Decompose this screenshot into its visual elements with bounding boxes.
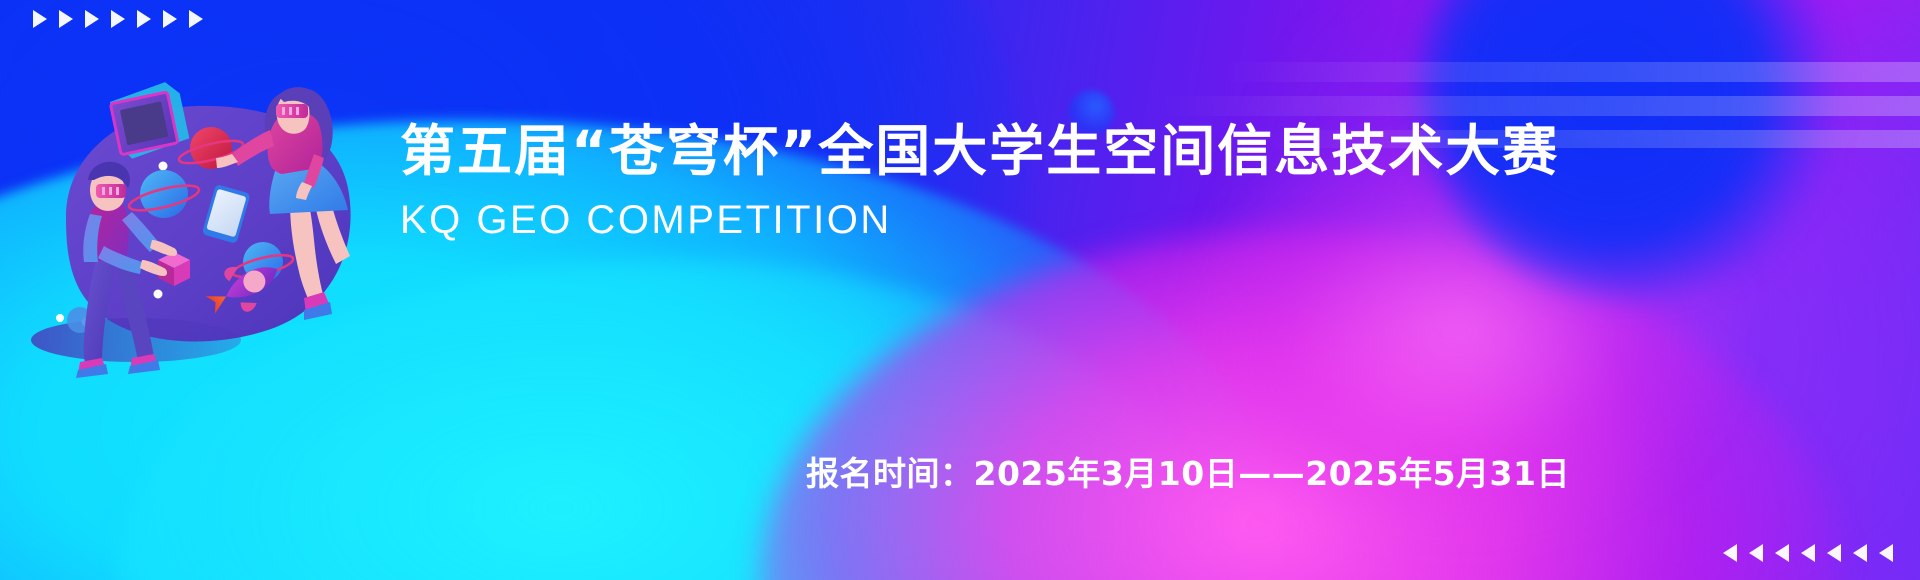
banner-title-english: KQ GEO COMPETITION	[400, 198, 1900, 242]
decorative-arrows-bottom-right	[1723, 544, 1893, 562]
triangle-right-icon	[33, 10, 47, 28]
headline-block: 第五届“苍穹杯”全国大学生空间信息技术大赛 KQ GEO COMPETITION	[400, 122, 1900, 242]
banner-title-chinese: 第五届“苍穹杯”全国大学生空间信息技术大赛	[400, 122, 1900, 180]
triangle-right-icon	[85, 10, 99, 28]
competition-banner: 第五届“苍穹杯”全国大学生空间信息技术大赛 KQ GEO COMPETITION…	[0, 0, 1920, 580]
triangle-right-icon	[163, 10, 177, 28]
triangle-left-icon	[1879, 544, 1893, 562]
triangle-left-icon	[1801, 544, 1815, 562]
stripe-1	[1220, 62, 1920, 82]
stripe-2	[1160, 96, 1920, 116]
star-dot	[154, 290, 163, 299]
triangle-left-icon	[1749, 544, 1763, 562]
triangle-right-icon	[111, 10, 125, 28]
vr-students-space-illustration	[18, 62, 358, 382]
triangle-left-icon	[1827, 544, 1841, 562]
star-dot	[56, 314, 64, 322]
triangle-left-icon	[1723, 544, 1737, 562]
triangle-right-icon	[137, 10, 151, 28]
triangle-left-icon	[1775, 544, 1789, 562]
triangle-right-icon	[189, 10, 203, 28]
decorative-arrows-top-left	[33, 10, 203, 28]
triangle-right-icon	[59, 10, 73, 28]
registration-period-text: 报名时间：2025年3月10日——2025年5月31日	[806, 447, 1570, 495]
star-dot	[159, 162, 168, 171]
triangle-left-icon	[1853, 544, 1867, 562]
